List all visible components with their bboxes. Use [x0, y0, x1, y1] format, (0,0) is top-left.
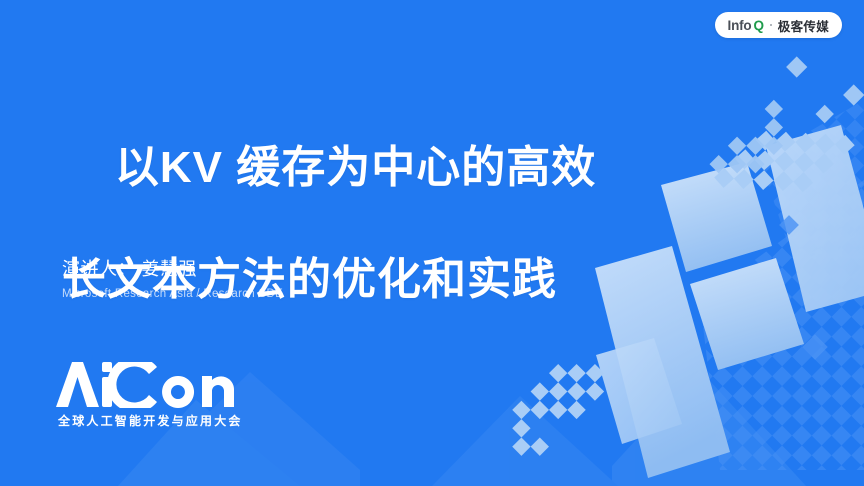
aicon-wordmark-icon	[56, 362, 236, 408]
slide-title-line-1: 以KV 缓存为中心的高效	[115, 143, 596, 192]
infoq-badge[interactable]: Info Q 极客传媒	[715, 12, 842, 38]
stray-squares	[786, 56, 864, 123]
shape-cluster	[661, 125, 864, 370]
badge-separator-dot	[770, 24, 772, 26]
speaker-line: 演讲人： 姜慧强	[62, 255, 197, 281]
speaker-affiliation: Microsoft Research Asia / Research SDE	[62, 288, 283, 300]
aicon-logo: 全球人工智能开发与应用大会	[56, 362, 243, 429]
faint-checker-field	[700, 180, 864, 470]
infoq-q-text: Q	[753, 18, 763, 33]
pixel-trail-upper	[714, 93, 854, 229]
shape-diamond	[596, 338, 682, 444]
faint-stray-squares	[779, 215, 828, 360]
infoq-cn-text: 极客传媒	[778, 16, 829, 35]
pixel-trail-upper-2	[709, 100, 801, 192]
aicon-logo-subtitle: 全球人工智能开发与应用大会	[58, 412, 243, 429]
shape-band	[595, 246, 730, 478]
presentation-slide: Info Q 极客传媒 以KV 缓存为中心的高效 长文本方法的优化和实践 演讲人…	[0, 0, 864, 486]
faint-checker-field-2	[760, 100, 864, 260]
infoq-info-text: Info	[728, 18, 752, 33]
